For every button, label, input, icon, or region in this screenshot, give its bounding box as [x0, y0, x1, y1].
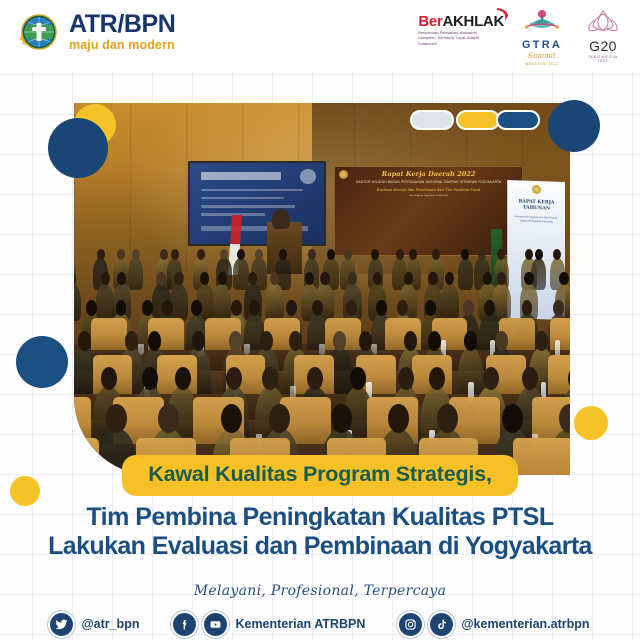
deco-pill-gray — [410, 110, 454, 130]
rollup-banner-subtitle: Kementerian Agraria dan Tata Ruang / Bad… — [508, 216, 565, 226]
poster-header: ATR/BPN maju dan modern BerAKHLAK Berori… — [0, 0, 640, 72]
stage-banner-theme: Evaluasi Kinerja dan Pembinaan dari Tim … — [335, 188, 521, 193]
social-instagram-tiktok-handle: @kementerian.atrbpn — [461, 617, 589, 631]
deco-pill-blue — [496, 110, 540, 130]
swoosh-icon — [496, 7, 509, 22]
stage-banner-venue: Hotel Indoluxe Yogyakarta, 19 Mei 2022 — [335, 195, 521, 197]
stage-banner-title: Rapat Kerja Daerah 2022 — [335, 171, 521, 178]
berakhlak-logo: BerAKHLAK Berorientasi Pelayanan, Akunta… — [418, 8, 504, 47]
partner-logos: BerAKHLAK Berorientasi Pelayanan, Akunta… — [418, 8, 626, 66]
gtra-mark-icon — [518, 8, 566, 34]
conference-hall-photo: Rapat Kerja Daerah 2022 KANTOR WILAYAH B… — [74, 103, 570, 475]
rollup-banner-title: RAPAT KERJA TAHUNAN — [508, 199, 565, 212]
berakhlak-wordmark: BerAKHLAK — [418, 14, 504, 29]
gtra-note: WAKATOBI 2022 — [518, 62, 566, 66]
berakhlak-subtitle: Berorientasi Pelayanan, Akuntabel, Kompe… — [418, 31, 496, 47]
berakhlak-prefix: Ber — [418, 13, 442, 30]
deco-circle-yellow-right — [574, 406, 608, 440]
stage-banner-subtitle: KANTOR WILAYAH BADAN PERTANAHAN NASIONAL… — [335, 180, 521, 184]
social-facebook-youtube-handle: Kementerian ATRBPN — [235, 617, 365, 631]
g20-lotus-icon — [580, 8, 626, 34]
headline-block: Kawal Kualitas Program Strategis, Tim Pe… — [0, 455, 640, 561]
instagram-icon[interactable] — [399, 613, 422, 636]
brand-title: ATR/BPN — [69, 12, 175, 37]
deco-circle-blue-left — [16, 336, 68, 388]
social-facebook-youtube[interactable]: Kementerian ATRBPN — [173, 613, 365, 636]
headline-line-2: Tim Pembina Peningkatan Kualitas PTSL — [0, 503, 640, 532]
youtube-icon[interactable] — [204, 613, 227, 636]
tagline: Melayani, Profesional, Terpercaya — [0, 583, 640, 599]
social-footer: @atr_bpn Kementerian ATRBPN @kementerian… — [0, 608, 640, 640]
g20-year: 2022 — [580, 59, 626, 63]
gtra-wordmark: GTRA — [518, 40, 566, 51]
g20-logo: G20 INDONESIA 2022 — [580, 8, 626, 63]
g20-wordmark: G20 — [580, 39, 626, 53]
atrbpn-brand: ATR/BPN maju dan modern — [16, 10, 175, 54]
headline-chip: Kawal Kualitas Program Strategis, — [122, 455, 518, 496]
deco-circle-blue-topleft — [48, 118, 108, 178]
atrbpn-globe-emblem-icon — [16, 10, 60, 54]
headline-line-3: Lakukan Evaluasi dan Pembinaan di Yogyak… — [0, 532, 640, 561]
gtra-logo: GTRA Summit WAKATOBI 2022 — [518, 8, 566, 66]
facebook-icon[interactable] — [173, 613, 196, 636]
poster-canvas: ATR/BPN maju dan modern BerAKHLAK Berori… — [0, 0, 640, 640]
social-instagram-tiktok[interactable]: @kementerian.atrbpn — [399, 613, 589, 636]
social-twitter-handle: @atr_bpn — [81, 617, 139, 631]
twitter-icon[interactable] — [50, 613, 73, 636]
deco-circle-blue-topright — [548, 100, 600, 152]
social-twitter[interactable]: @atr_bpn — [50, 613, 139, 636]
gtra-summit-label: Summit — [518, 53, 566, 60]
projector-screen — [188, 161, 326, 247]
audience — [74, 244, 570, 475]
berakhlak-suffix: AKHLAK — [442, 13, 504, 30]
deco-pill-yellow — [456, 110, 500, 130]
tiktok-icon[interactable] — [430, 613, 453, 636]
brand-subtitle: maju dan modern — [69, 39, 175, 52]
